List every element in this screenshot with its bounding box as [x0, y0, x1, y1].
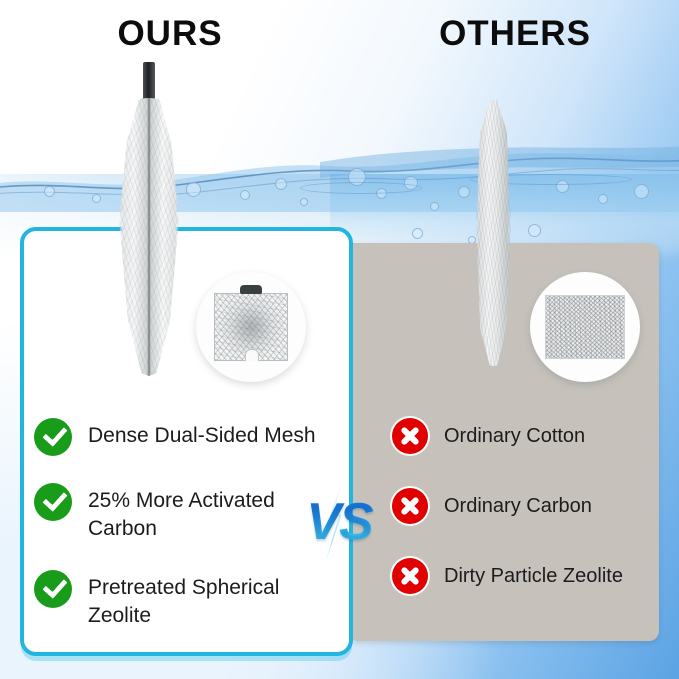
filter-cartridge-icon	[214, 293, 288, 361]
list-item: Ordinary Carbon	[392, 488, 657, 524]
feature-label: Ordinary Cotton	[444, 418, 585, 450]
feature-label: Ordinary Carbon	[444, 488, 592, 520]
vs-label: VS	[296, 492, 382, 552]
ours-title: OURS	[60, 14, 280, 54]
cross-circle-icon	[392, 488, 428, 524]
bubble	[240, 190, 250, 200]
feature-label: Dense Dual-Sided Mesh	[88, 418, 316, 450]
bubble	[186, 182, 201, 197]
list-item: Dirty Particle Zeolite	[392, 558, 657, 594]
bubble	[404, 176, 418, 190]
bubble	[348, 168, 366, 186]
others-title: OTHERS	[395, 14, 635, 54]
vs-badge: VS	[296, 478, 382, 564]
list-item: Pretreated Spherical Zeolite	[34, 570, 334, 630]
others-feature-list: Ordinary Cotton Ordinary Carbon Dirty Pa…	[392, 418, 657, 628]
bubble	[430, 202, 439, 211]
ripple	[300, 182, 422, 194]
feature-label: 25% More Activated Carbon	[88, 483, 275, 543]
bubble	[376, 188, 387, 199]
water-crest-svg	[0, 132, 679, 212]
comparison-image: OURS OTHERS	[0, 0, 679, 679]
check-circle-icon	[34, 483, 72, 521]
check-circle-icon	[34, 418, 72, 456]
cotton-pad-icon	[545, 295, 625, 359]
ours-inset-badge	[196, 272, 306, 382]
feature-label: Dirty Particle Zeolite	[444, 558, 623, 590]
bubble	[412, 228, 423, 239]
cartridge-notch-icon	[245, 349, 259, 361]
list-item: 25% More Activated Carbon	[34, 483, 334, 543]
bubble	[275, 178, 287, 190]
bubble	[528, 224, 541, 237]
others-inset-badge	[530, 272, 640, 382]
feature-label: Pretreated Spherical Zeolite	[88, 570, 279, 630]
cross-circle-icon	[392, 558, 428, 594]
others-product-texture	[476, 100, 511, 366]
bubble	[458, 186, 470, 198]
bubble	[44, 186, 55, 197]
check-circle-icon	[34, 570, 72, 608]
list-item: Ordinary Cotton	[392, 418, 657, 454]
bubble	[92, 194, 101, 203]
cartridge-tab-icon	[240, 285, 262, 294]
bubble	[300, 198, 308, 206]
water-crest	[0, 132, 679, 202]
ours-feature-list: Dense Dual-Sided Mesh 25% More Activated…	[34, 418, 334, 657]
bubble	[556, 180, 569, 193]
filter-sock-clip-icon	[143, 62, 155, 102]
list-item: Dense Dual-Sided Mesh	[34, 418, 334, 456]
bubble	[598, 194, 608, 204]
bubble	[634, 184, 649, 199]
cross-circle-icon	[392, 418, 428, 454]
